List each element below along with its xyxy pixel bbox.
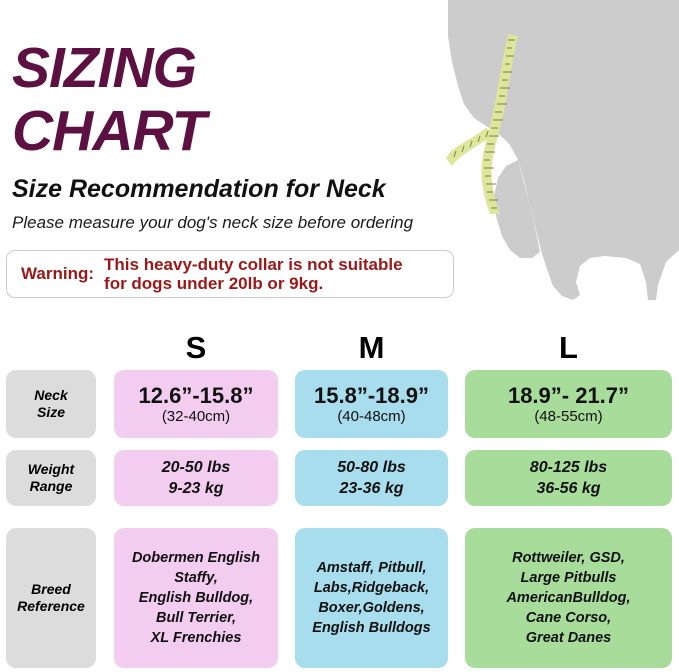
sizing-chart-page: SIZING CHART Size Recommendation for Nec…: [0, 0, 679, 672]
breed-large-line1: Rottweiler, GSD,: [504, 548, 633, 568]
weight-range-medium-kg: 23-36 kg: [339, 478, 403, 499]
neck-size-large-cm: (48-55cm): [534, 408, 602, 426]
breed-small-line1: Dobermen English: [124, 548, 268, 568]
neck-size-small-inches: 12.6”-15.8”: [139, 383, 254, 408]
neck-size-medium-cm: (40-48cm): [337, 408, 405, 426]
breed-small-line4: Bull Terrier,: [148, 608, 244, 628]
weight-range-medium: 50-80 lbs 23-36 kg: [295, 450, 448, 506]
page-title: SIZING CHART: [12, 40, 442, 160]
row-label-weight-range-line1: Weight: [28, 461, 74, 478]
breed-reference-medium: Amstaff, Pitbull, Labs,Ridgeback, Boxer,…: [295, 528, 448, 668]
breed-reference-small: Dobermen English Staffy, English Bulldog…: [114, 528, 278, 668]
neck-size-medium: 15.8”-18.9” (40-48cm): [295, 370, 448, 438]
row-label-neck-size-line1: Neck: [34, 387, 67, 404]
breed-small-line3: English Bulldog,: [131, 588, 261, 608]
breed-reference-large: Rottweiler, GSD, Large Pitbulls American…: [465, 528, 672, 668]
dog-silhouette-shape: [448, 0, 679, 300]
neck-size-large: 18.9”- 21.7” (48-55cm): [465, 370, 672, 438]
title-line-1: SIZING: [12, 40, 442, 97]
weight-range-large-lbs: 80-125 lbs: [530, 457, 607, 478]
weight-range-medium-lbs: 50-80 lbs: [337, 457, 405, 478]
weight-range-large-kg: 36-56 kg: [536, 478, 600, 499]
breed-small-line2: Staffy,: [166, 568, 226, 588]
warning-box: Warning: This heavy-duty collar is not s…: [6, 250, 454, 298]
breed-large-line5: Great Danes: [518, 628, 619, 648]
weight-range-small-lbs: 20-50 lbs: [162, 457, 230, 478]
size-header-row: S M L: [0, 330, 679, 364]
weight-range-small: 20-50 lbs 9-23 kg: [114, 450, 278, 506]
title-line-2: CHART: [12, 103, 442, 160]
breed-medium-line3: Boxer,Goldens,: [310, 598, 432, 618]
size-header-m: M: [295, 330, 448, 366]
breed-medium-line2: Labs,Ridgeback,: [306, 578, 437, 598]
subtitle: Size Recommendation for Neck: [12, 175, 386, 204]
neck-size-large-inches: 18.9”- 21.7”: [508, 383, 629, 408]
warning-line-1: This heavy-duty collar is not suitable: [104, 255, 403, 274]
neck-size-medium-inches: 15.8”-18.9”: [314, 383, 429, 408]
breed-large-line2: Large Pitbulls: [513, 568, 625, 588]
breed-large-line4: Cane Corso,: [518, 608, 619, 628]
breed-large-line3: AmericanBulldog,: [498, 588, 638, 608]
weight-range-small-kg: 9-23 kg: [168, 478, 223, 499]
row-label-breed-reference-line2: Reference: [17, 598, 85, 615]
warning-text: This heavy-duty collar is not suitable f…: [104, 255, 403, 293]
row-label-breed-reference-line1: Breed: [31, 581, 71, 598]
neck-size-small-cm: (32-40cm): [162, 408, 230, 426]
row-label-breed-reference: Breed Reference: [6, 528, 96, 668]
row-label-weight-range: Weight Range: [6, 450, 96, 506]
row-label-weight-range-line2: Range: [30, 478, 73, 495]
size-header-l: L: [465, 330, 672, 366]
breed-medium-line4: English Bulldogs: [304, 618, 438, 638]
measure-instruction: Please measure your dog's neck size befo…: [12, 213, 413, 233]
size-header-s: S: [114, 330, 278, 366]
row-label-neck-size: Neck Size: [6, 370, 96, 438]
neck-size-small: 12.6”-15.8” (32-40cm): [114, 370, 278, 438]
warning-line-2: for dogs under 20lb or 9kg.: [104, 274, 403, 293]
row-label-neck-size-line2: Size: [37, 404, 65, 421]
breed-small-line5: XL Frenchies: [143, 628, 250, 648]
warning-label: Warning:: [7, 264, 104, 284]
breed-medium-line1: Amstaff, Pitbull,: [308, 558, 434, 578]
weight-range-large: 80-125 lbs 36-56 kg: [465, 450, 672, 506]
